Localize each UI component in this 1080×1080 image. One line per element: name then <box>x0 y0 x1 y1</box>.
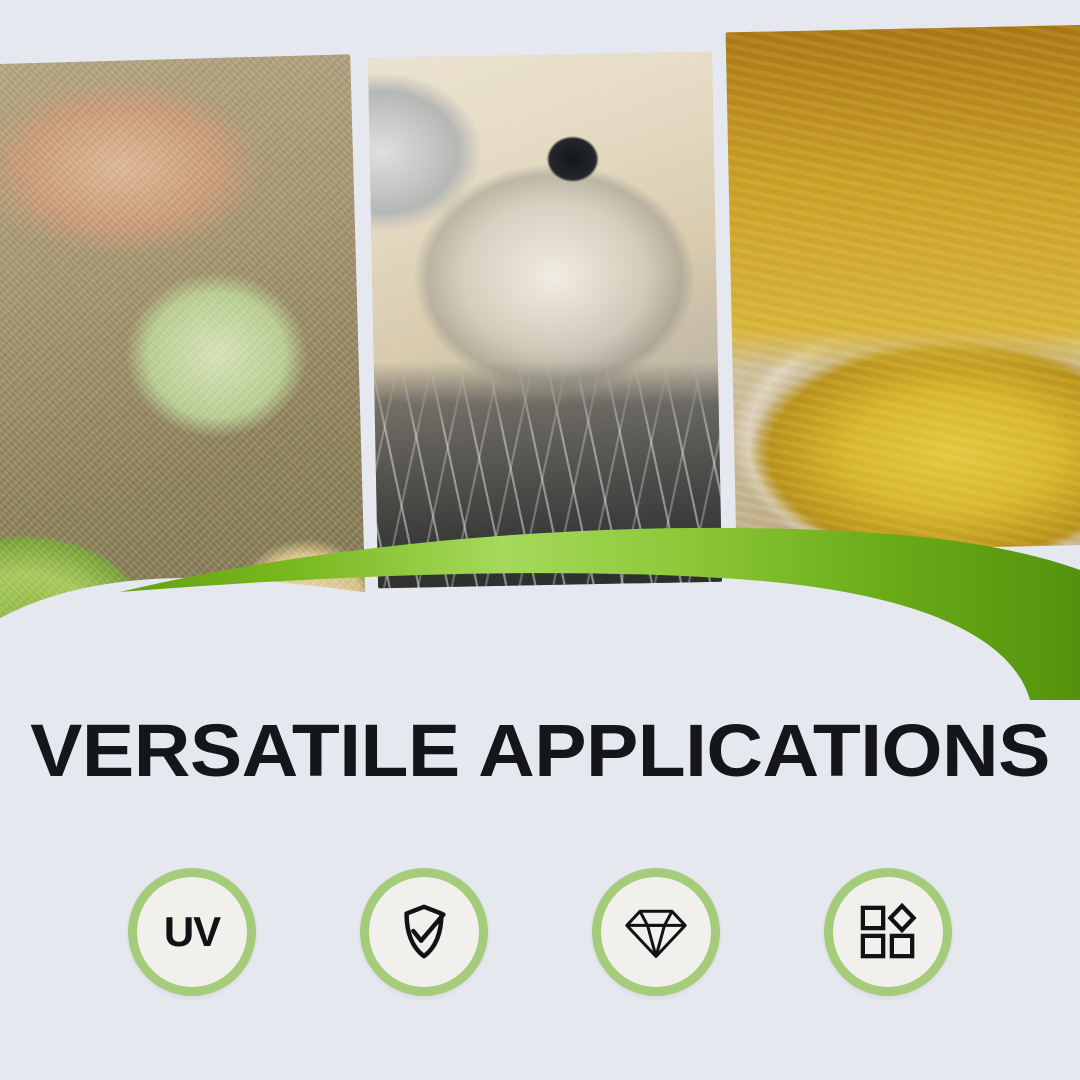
badge-uv[interactable]: UV <box>128 868 256 996</box>
cookware-photo <box>368 52 722 589</box>
oil-photo <box>726 24 1080 553</box>
page-title: VERSATILE APPLICATIONS <box>0 714 1080 788</box>
collage-panel-cookware <box>368 52 722 589</box>
uv-text-icon: UV <box>164 908 220 956</box>
collage-panel-oil <box>726 24 1080 553</box>
badge-shield[interactable] <box>360 868 488 996</box>
collage-panel-legumes <box>0 54 366 625</box>
diamond-icon <box>624 903 688 961</box>
legumes-photo <box>0 54 366 625</box>
badge-diamond[interactable] <box>592 868 720 996</box>
versatile-applications-banner: VERSATILE APPLICATIONS UV <box>0 0 1080 1080</box>
shield-check-icon <box>393 901 455 963</box>
apps-grid-icon <box>859 903 917 961</box>
feature-badge-row: UV <box>0 868 1080 996</box>
hero-collage <box>0 0 1080 690</box>
badge-apps[interactable] <box>824 868 952 996</box>
